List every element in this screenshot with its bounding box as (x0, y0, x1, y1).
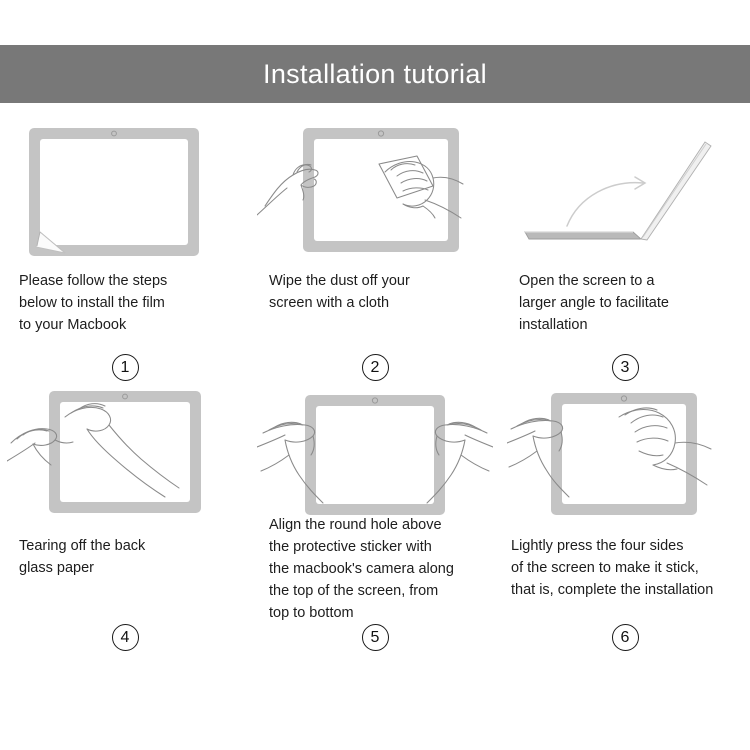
step-cell-1: Please follow the steps below to install… (0, 120, 250, 385)
step-badge-1: 1 (112, 354, 139, 381)
badge-holder-4: 4 (112, 579, 139, 655)
step-badge-3: 3 (612, 354, 639, 381)
step-cell-2: Wipe the dust off your screen with a clo… (250, 120, 500, 385)
step-caption-3: Open the screen to a larger angle to fac… (519, 270, 731, 336)
step-caption-6: Lightly press the four sides of the scre… (511, 535, 739, 601)
step-badge-6: 6 (612, 624, 639, 651)
figure-laptop-side-view-opening-angle (507, 120, 743, 260)
step-cell-6: Lightly press the four sides of the scre… (500, 385, 750, 655)
badge-holder-2: 2 (362, 314, 389, 385)
badge-holder-3: 3 (612, 336, 639, 385)
figure-two-hands-aligning-film (257, 385, 493, 504)
step-caption-5: Align the round hole above the protectiv… (269, 514, 481, 624)
header-band: Installation tutorial (0, 45, 750, 103)
badge-holder-1: 1 (112, 336, 139, 385)
badge-holder-5: 5 (362, 624, 389, 655)
figure-hands-tearing-back-paper (7, 385, 243, 525)
step-cell-5: Align the round hole above the protectiv… (250, 385, 500, 655)
step-cell-4: Tearing off the back glass paper 4 (0, 385, 250, 655)
steps-grid: Please follow the steps below to install… (0, 120, 750, 655)
figure-hands-wiping-screen-with-cloth (257, 120, 493, 260)
figure-hand-pressing-four-sides (507, 385, 743, 525)
step-badge-4: 4 (112, 624, 139, 651)
badge-holder-6: 6 (612, 601, 639, 655)
page-title: Installation tutorial (263, 61, 487, 88)
step-badge-5: 5 (362, 624, 389, 651)
step-caption-1: Please follow the steps below to install… (19, 270, 231, 336)
step-cell-3: Open the screen to a larger angle to fac… (500, 120, 750, 385)
step-caption-4: Tearing off the back glass paper (19, 535, 231, 579)
figure-macbook-screen-with-peeling-film (7, 120, 243, 260)
step-caption-2: Wipe the dust off your screen with a clo… (269, 270, 481, 314)
step-badge-2: 2 (362, 354, 389, 381)
